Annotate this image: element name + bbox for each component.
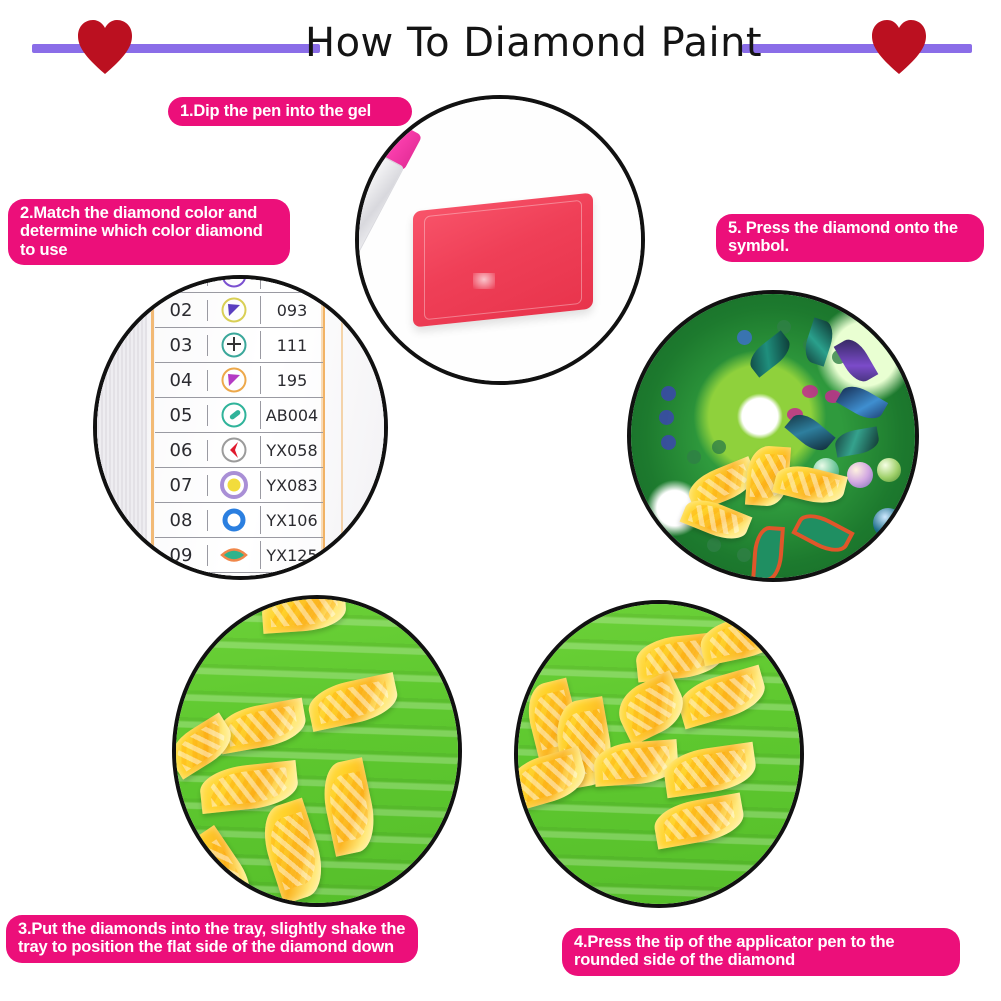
chart-cell-code: 111 <box>261 336 323 355</box>
chart-cell-symbol <box>208 506 261 534</box>
chart-cell-symbol <box>208 275 261 289</box>
color-chart-row: 08YX106 <box>155 503 323 538</box>
chart-cell-code: 020 <box>261 275 323 285</box>
color-chart-row: 05AB004 <box>155 398 323 433</box>
chart-cell-no: 07 <box>155 475 208 496</box>
step-2-label: 2.Match the diamond color and determine … <box>8 199 290 265</box>
chart-cell-code: 093 <box>261 301 323 320</box>
chart-cell-symbol <box>208 366 261 394</box>
page-title: How To Diamond Paint <box>305 20 762 66</box>
chart-cell-code: YX106 <box>261 511 323 530</box>
step-5-label: 5. Press the diamond onto the symbol. <box>716 214 984 262</box>
color-chart-table: 0102002093031110419505AB00406YX05807YX08… <box>155 275 323 573</box>
color-chart-row: 01020 <box>155 275 323 293</box>
divider-line-right <box>742 44 972 53</box>
color-chart-row: 04195 <box>155 363 323 398</box>
chart-cell-symbol <box>208 331 261 359</box>
chart-cell-code: YX083 <box>261 476 323 495</box>
chart-cell-no: 01 <box>155 275 208 286</box>
color-chart-row: 09YX125 <box>155 538 323 573</box>
pen-barrel <box>355 149 405 267</box>
chart-cell-no: 03 <box>155 335 208 356</box>
pen-barrel <box>514 613 561 711</box>
color-chart-row: 02093 <box>155 293 323 328</box>
color-chart-row: 06YX058 <box>155 433 323 468</box>
photo-pen-dipping-gel <box>355 95 645 385</box>
photo-color-chart: 0102002093031110419505AB00406YX05807YX08… <box>93 275 388 580</box>
photo-placing-diamond-on-canvas <box>627 290 919 582</box>
chart-cell-code: AB004 <box>261 406 323 425</box>
chart-cell-symbol <box>208 296 261 324</box>
chart-cell-no: 02 <box>155 300 208 321</box>
heart-icon-right <box>868 16 930 78</box>
photo-diamonds-in-tray <box>172 595 462 907</box>
chart-cell-symbol <box>208 471 261 499</box>
pen-barrel <box>627 298 668 415</box>
chart-cell-symbol <box>208 401 261 429</box>
chart-cell-no: 09 <box>155 545 208 566</box>
chart-cell-symbol <box>208 436 261 464</box>
chart-cell-code: 195 <box>261 371 323 390</box>
chart-cell-no: 04 <box>155 370 208 391</box>
step-4-label: 4.Press the tip of the applicator pen to… <box>562 928 960 976</box>
step-3-label: 3.Put the diamonds into the tray, slight… <box>6 915 418 963</box>
color-chart-row: 03111 <box>155 328 323 363</box>
chart-cell-no: 05 <box>155 405 208 426</box>
photo-pen-picking-diamond <box>514 600 804 908</box>
chart-cell-symbol <box>208 541 261 569</box>
chart-cell-no: 06 <box>155 440 208 461</box>
chart-cell-code: YX058 <box>261 441 323 460</box>
chart-cell-code: YX125 <box>261 546 323 565</box>
infographic-canvas: How To Diamond Paint 1.Dip the pen into … <box>0 0 1001 1001</box>
color-chart-row: 07YX083 <box>155 468 323 503</box>
chart-cell-no: 08 <box>155 510 208 531</box>
heart-icon-left <box>74 16 136 78</box>
